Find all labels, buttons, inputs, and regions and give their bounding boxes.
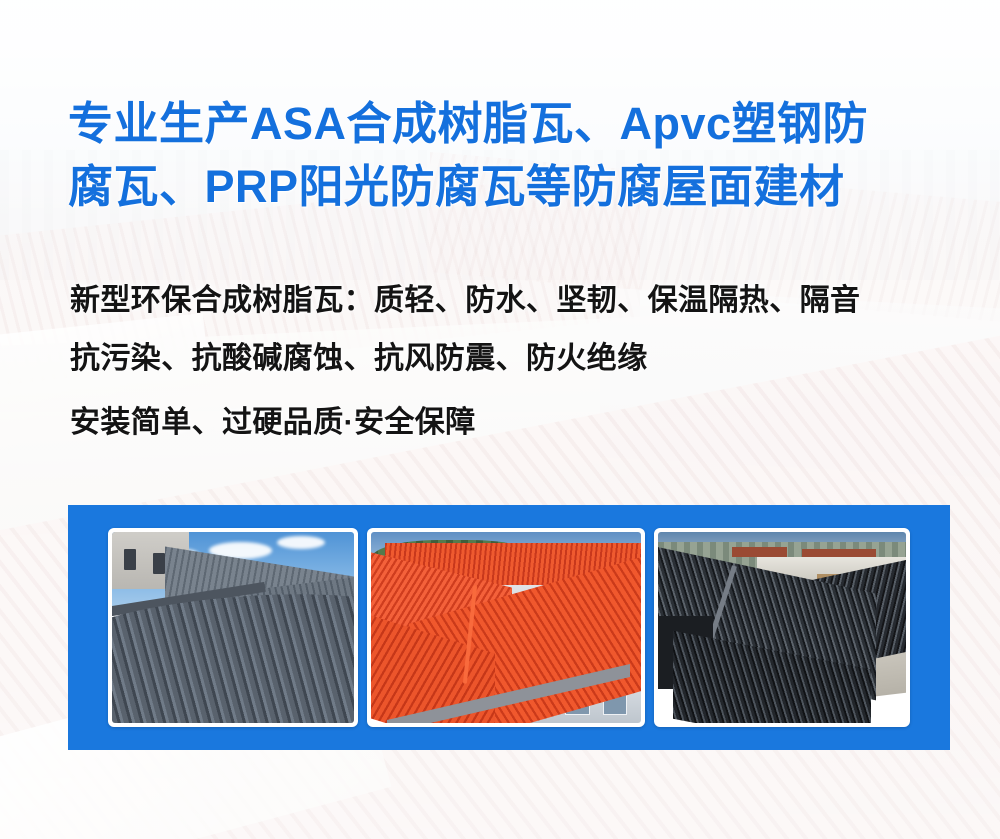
headline-line-1: 专业生产ASA合成树脂瓦、Apvc塑钢防 [68,92,948,155]
headline: 专业生产ASA合成树脂瓦、Apvc塑钢防 腐瓦、PRP阳光防腐瓦等防腐屋面建材 [68,92,948,218]
photo-gallery-panel [68,505,950,750]
photo1-window [124,549,136,570]
gallery-photo-2[interactable] [367,528,645,727]
gallery-photo-3[interactable] [654,528,910,727]
subheadline-line-3: 安装简单、过硬品质·安全保障 [70,394,970,452]
subheadline: 新型环保合成树脂瓦：质轻、防水、坚韧、保温隔热、隔音 抗污染、抗酸碱腐蚀、抗风防… [70,272,970,452]
photo-grey-resin-tile-roof [112,532,354,723]
photo1-window [153,553,165,574]
photo-black-resin-tile-roof [658,532,906,723]
photo1-cloud [277,536,325,549]
gallery-photo-1[interactable] [108,528,358,727]
headline-line-2: 腐瓦、PRP阳光防腐瓦等防腐屋面建材 [68,155,948,218]
subheadline-line-1: 新型环保合成树脂瓦：质轻、防水、坚韧、保温隔热、隔音 [70,272,970,330]
product-banner: 专业生产ASA合成树脂瓦、Apvc塑钢防 腐瓦、PRP阳光防腐瓦等防腐屋面建材 … [0,0,1000,839]
banner-content: 专业生产ASA合成树脂瓦、Apvc塑钢防 腐瓦、PRP阳光防腐瓦等防腐屋面建材 … [0,0,1000,839]
subheadline-line-2: 抗污染、抗酸碱腐蚀、抗风防震、防火绝缘 [70,330,970,388]
photo3-distant-red-roof [732,547,787,557]
photo-red-resin-tile-roof [371,532,641,723]
